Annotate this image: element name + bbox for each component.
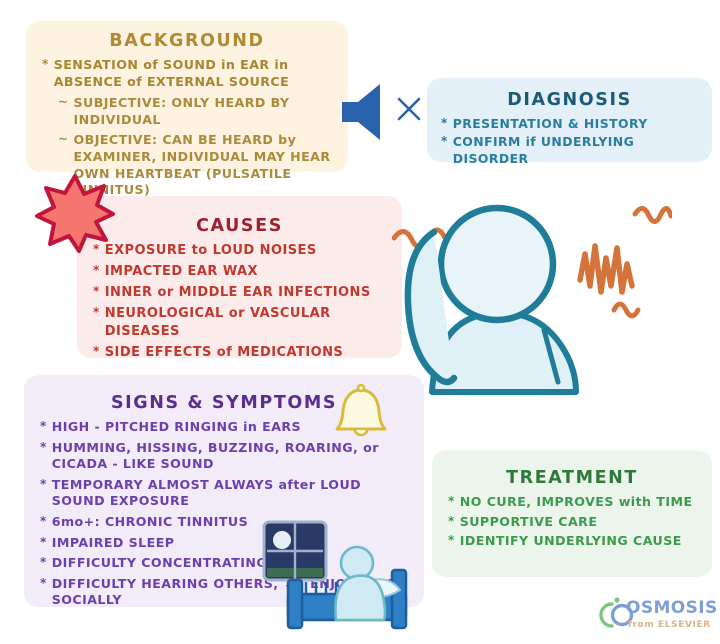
bullet-asterisk-icon: * — [448, 514, 455, 530]
list-item: * PRESENTATION & HISTORY — [441, 116, 698, 132]
panel-signs-title: SIGNS & SYMPTOMS — [40, 393, 408, 413]
bullet-asterisk-icon: * — [448, 494, 455, 510]
list-item-text: HUMMING, HISSING, BUZZING, ROARING, or C… — [52, 440, 408, 473]
list-item-text: IMPAIRED SLEEP — [52, 535, 408, 552]
bullet-asterisk-icon: * — [448, 533, 455, 549]
list-item: * IDENTIFY UNDERLYING CAUSE — [448, 533, 696, 550]
list-item-text: IDENTIFY UNDERLYING CAUSE — [460, 533, 696, 550]
bullet-asterisk-icon: * — [42, 57, 49, 73]
list-item-text: EXPOSURE to LOUD NOISES — [105, 242, 386, 259]
list-item-text: SENSATION of SOUND in EAR in ABSENCE of … — [54, 57, 332, 90]
panel-background-sublist: ~ SUBJECTIVE: ONLY HEARD BY INDIVIDUAL ~… — [58, 95, 332, 199]
infographic-canvas: BACKGROUND * SENSATION of SOUND in EAR i… — [0, 0, 720, 644]
list-item: * DIFFICULTY HEARING OTHERS, ↓↓ ENJOYMEN… — [40, 576, 408, 609]
list-item: * IMPAIRED SLEEP — [40, 535, 408, 552]
panel-causes-list: * EXPOSURE to LOUD NOISES * IMPACTED EAR… — [93, 242, 386, 361]
list-item-text: PRESENTATION & HISTORY — [453, 116, 698, 132]
bullet-asterisk-icon: * — [93, 263, 100, 279]
panel-treatment-list: * NO CURE, IMPROVES with TIME * SUPPORTI… — [448, 494, 696, 550]
sound-wave-squiggles — [394, 208, 671, 316]
list-item: * IMPACTED EAR WAX — [93, 263, 386, 280]
bullet-asterisk-icon: * — [441, 134, 448, 150]
list-item-text: CONFIRM if UNDERLYING DISORDER — [453, 134, 698, 167]
list-item: ~ SUBJECTIVE: ONLY HEARD BY INDIVIDUAL — [58, 95, 332, 128]
bullet-tilde-icon: ~ — [58, 132, 69, 148]
list-item-text: 6mo+: CHRONIC TINNITUS — [52, 514, 408, 531]
bullet-asterisk-icon: * — [40, 535, 47, 551]
osmosis-logo: OSMOSIS from ELSEVIER — [596, 596, 714, 638]
bullet-asterisk-icon: * — [93, 344, 100, 360]
list-item: * SIDE EFFECTS of MEDICATIONS — [93, 344, 386, 361]
bullet-asterisk-icon: * — [93, 284, 100, 300]
panel-diagnosis-title: DIAGNOSIS — [441, 90, 698, 110]
bullet-asterisk-icon: * — [441, 116, 448, 132]
person-hand-to-ear-illustration — [392, 192, 672, 442]
list-item: * HIGH - PITCHED RINGING in EARS — [40, 419, 408, 436]
panel-treatment: TREATMENT * NO CURE, IMPROVES with TIME … — [432, 450, 712, 577]
bullet-asterisk-icon: * — [93, 242, 100, 258]
panel-treatment-inner: TREATMENT * NO CURE, IMPROVES with TIME … — [432, 450, 712, 561]
panel-signs-inner: SIGNS & SYMPTOMS * HIGH - PITCHED RINGIN… — [24, 375, 424, 621]
bullet-asterisk-icon: * — [40, 576, 47, 592]
list-item: * TEMPORARY ALMOST ALWAYS after LOUD SOU… — [40, 477, 408, 510]
panel-causes: CAUSES * EXPOSURE to LOUD NOISES * IMPAC… — [77, 196, 402, 358]
panel-causes-inner: CAUSES * EXPOSURE to LOUD NOISES * IMPAC… — [77, 196, 402, 373]
panel-signs-list: * HIGH - PITCHED RINGING in EARS * HUMMI… — [40, 419, 408, 609]
list-item: * DIFFICULTY CONCENTRATING — [40, 555, 408, 572]
list-item-text: TEMPORARY ALMOST ALWAYS after LOUD SOUND… — [52, 477, 408, 510]
panel-diagnosis-list: * PRESENTATION & HISTORY * CONFIRM if UN… — [441, 116, 698, 167]
panel-signs-and-symptoms: SIGNS & SYMPTOMS * HIGH - PITCHED RINGIN… — [24, 375, 424, 607]
panel-background-list: * SENSATION of SOUND in EAR in ABSENCE o… — [42, 57, 332, 90]
list-item: * 6mo+: CHRONIC TINNITUS — [40, 514, 408, 531]
list-item: * SENSATION of SOUND in EAR in ABSENCE o… — [42, 57, 332, 90]
list-item: * EXPOSURE to LOUD NOISES — [93, 242, 386, 259]
logo-brand-text: OSMOSIS — [626, 598, 718, 618]
panel-causes-title: CAUSES — [93, 216, 386, 236]
bullet-asterisk-icon: * — [40, 477, 47, 493]
list-item-text: IMPACTED EAR WAX — [105, 263, 386, 280]
bullet-asterisk-icon: * — [40, 419, 47, 435]
list-item-text: NO CURE, IMPROVES with TIME — [460, 494, 696, 511]
list-item-text: INNER or MIDDLE EAR INFECTIONS — [105, 284, 386, 301]
list-item: * INNER or MIDDLE EAR INFECTIONS — [93, 284, 386, 301]
bullet-asterisk-icon: * — [40, 440, 47, 456]
list-item: * SUPPORTIVE CARE — [448, 514, 696, 531]
panel-background-title: BACKGROUND — [42, 31, 332, 51]
panel-diagnosis-inner: DIAGNOSIS * PRESENTATION & HISTORY * CON… — [427, 78, 712, 177]
list-item-text: DIFFICULTY CONCENTRATING — [52, 555, 408, 572]
x-mark-icon — [396, 96, 422, 122]
list-item-text: SUBJECTIVE: ONLY HEARD BY INDIVIDUAL — [74, 95, 332, 128]
list-item-text: OBJECTIVE: CAN BE HEARD by EXAMINER, IND… — [74, 132, 332, 198]
list-item-text: DIFFICULTY HEARING OTHERS, ↓↓ ENJOYMENT … — [52, 576, 408, 609]
bullet-asterisk-icon: * — [40, 555, 47, 571]
logo-tagline-text: from ELSEVIER — [628, 620, 711, 630]
list-item: * NEUROLOGICAL or VASCULAR DISEASES — [93, 305, 386, 339]
list-item: * NO CURE, IMPROVES with TIME — [448, 494, 696, 511]
bullet-asterisk-icon: * — [93, 305, 100, 321]
list-item: * HUMMING, HISSING, BUZZING, ROARING, or… — [40, 440, 408, 473]
list-item-text: HIGH - PITCHED RINGING in EARS — [52, 419, 408, 436]
panel-background: BACKGROUND * SENSATION of SOUND in EAR i… — [26, 21, 348, 172]
bullet-tilde-icon: ~ — [58, 95, 69, 111]
list-item-text: SUPPORTIVE CARE — [460, 514, 696, 531]
list-item: * CONFIRM if UNDERLYING DISORDER — [441, 134, 698, 167]
list-item-text: SIDE EFFECTS of MEDICATIONS — [105, 344, 386, 361]
list-item: ~ OBJECTIVE: CAN BE HEARD by EXAMINER, I… — [58, 132, 332, 198]
list-item-text: NEUROLOGICAL or VASCULAR DISEASES — [105, 305, 386, 339]
panel-diagnosis: DIAGNOSIS * PRESENTATION & HISTORY * CON… — [427, 78, 712, 162]
bullet-asterisk-icon: * — [40, 514, 47, 530]
panel-treatment-title: TREATMENT — [448, 468, 696, 488]
panel-background-inner: BACKGROUND * SENSATION of SOUND in EAR i… — [26, 21, 348, 211]
